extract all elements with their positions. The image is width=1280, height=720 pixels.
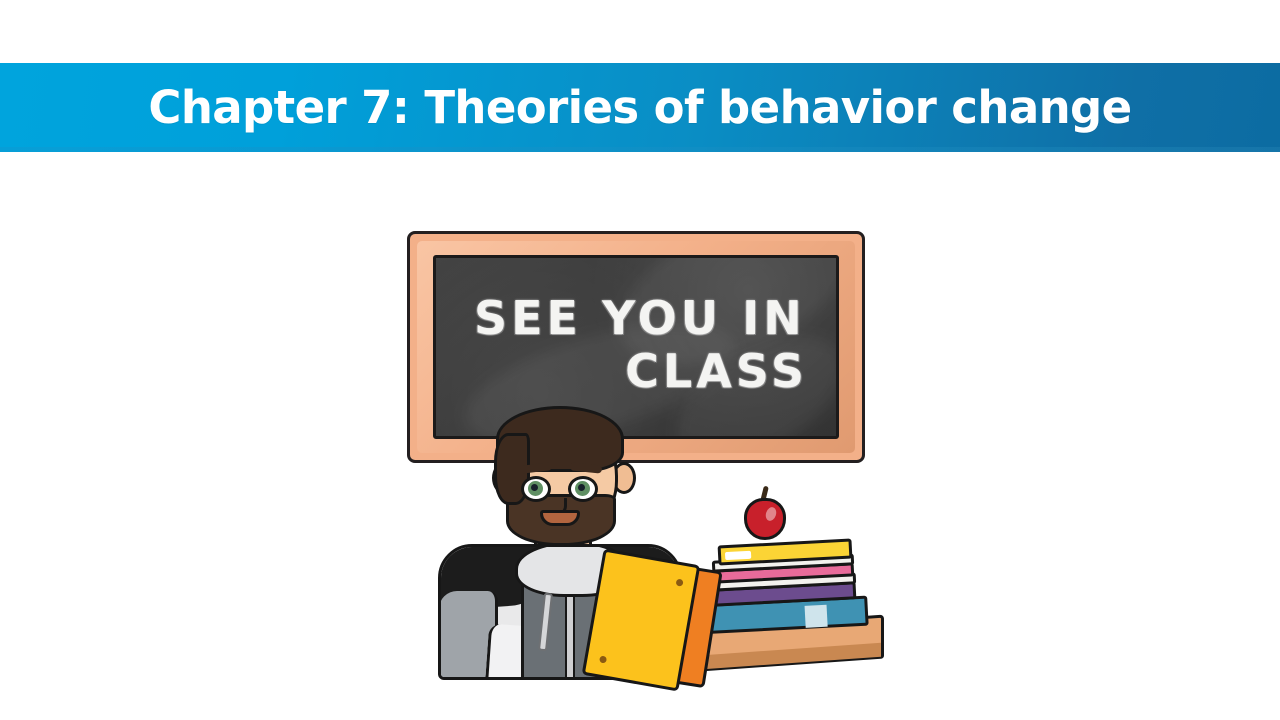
title-banner: Chapter 7: Theories of behavior change bbox=[0, 63, 1280, 152]
page-title: Chapter 7: Theories of behavior change bbox=[148, 85, 1131, 130]
slide: Chapter 7: Theories of behavior change S… bbox=[0, 0, 1280, 720]
chalkboard-line-1: SEE YOU IN bbox=[460, 295, 812, 342]
avatar-iris-right bbox=[575, 481, 590, 496]
folder-rivet-icon bbox=[599, 655, 607, 663]
folders bbox=[586, 554, 718, 680]
book-stack bbox=[696, 540, 876, 636]
folder-rivet-icon bbox=[676, 579, 684, 587]
avatar-eye-left bbox=[521, 476, 551, 502]
illustration: SEE YOU IN CLASS bbox=[0, 160, 1280, 680]
book-page bbox=[725, 551, 751, 560]
chalkboard-line-2: CLASS bbox=[460, 348, 812, 395]
avatar-hair bbox=[496, 406, 624, 472]
avatar-mouth bbox=[540, 510, 580, 526]
avatar-iris-left bbox=[528, 481, 543, 496]
avatar-eye-right bbox=[568, 476, 598, 502]
book-band bbox=[805, 605, 828, 628]
red-apple-icon bbox=[744, 498, 786, 540]
